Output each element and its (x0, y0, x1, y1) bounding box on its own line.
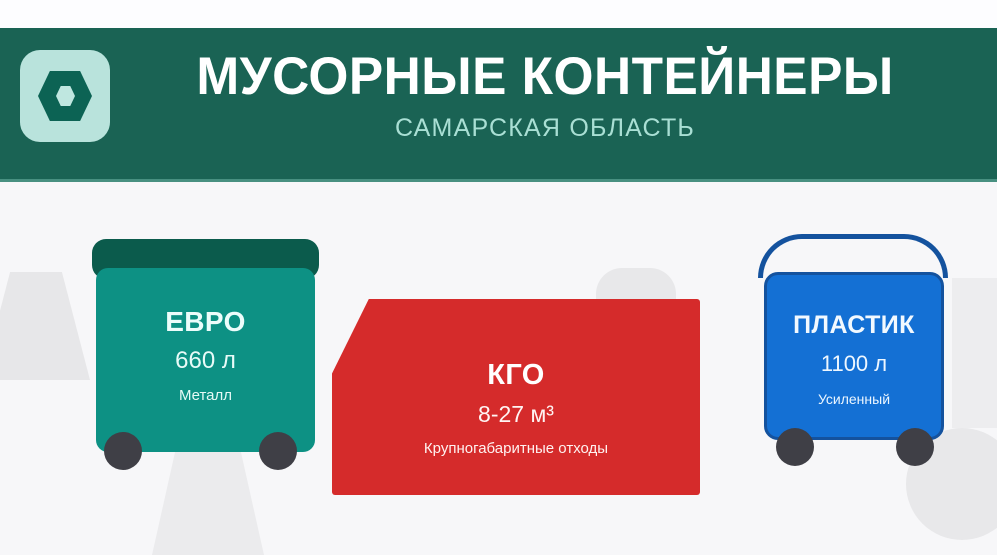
page-title: МУСОРНЫЕ КОНТЕЙНЕРЫ (142, 46, 947, 108)
header-underline (0, 179, 997, 182)
euro-label-stack: ЕВРО 660 л Металл (96, 305, 315, 407)
background-silhouette-left (0, 272, 90, 380)
background-silhouette-center (152, 435, 264, 555)
kgo-name: КГО (332, 358, 700, 392)
kgo-capacity: 8-27 м³ (332, 398, 700, 430)
plastic-label-stack: ПЛАСТИК 1100 л Усиленный (764, 308, 944, 410)
wheel-icon (259, 432, 297, 470)
plastic-name: ПЛАСТИК (764, 308, 944, 342)
wheel-icon (896, 428, 934, 466)
euro-capacity: 660 л (96, 345, 315, 377)
infographic-canvas: МУСОРНЫЕ КОНТЕЙНЕРЫ САМАРСКАЯ ОБЛАСТЬ ЕВ… (0, 0, 997, 555)
kgo-label-stack: КГО 8-27 м³ Крупногабаритные отходы (332, 358, 700, 460)
euro-name: ЕВРО (96, 305, 315, 339)
page-subtitle: САМАРСКАЯ ОБЛАСТЬ (130, 112, 960, 144)
background-silhouette-right (952, 278, 997, 428)
header-banner: МУСОРНЫЕ КОНТЕЙНЕРЫ САМАРСКАЯ ОБЛАСТЬ (0, 28, 997, 182)
kgo-note: Крупногабаритные отходы (332, 438, 700, 460)
wheel-icon (104, 432, 142, 470)
euro-note: Металл (96, 385, 315, 407)
plastic-capacity: 1100 л (764, 348, 944, 380)
header-text-block: МУСОРНЫЕ КОНТЕЙНЕРЫ САМАРСКАЯ ОБЛАСТЬ (130, 46, 960, 144)
wheel-icon (776, 428, 814, 466)
logo-tile (20, 50, 110, 142)
top-white-strip (0, 0, 997, 28)
plastic-note: Усиленный (764, 388, 944, 410)
